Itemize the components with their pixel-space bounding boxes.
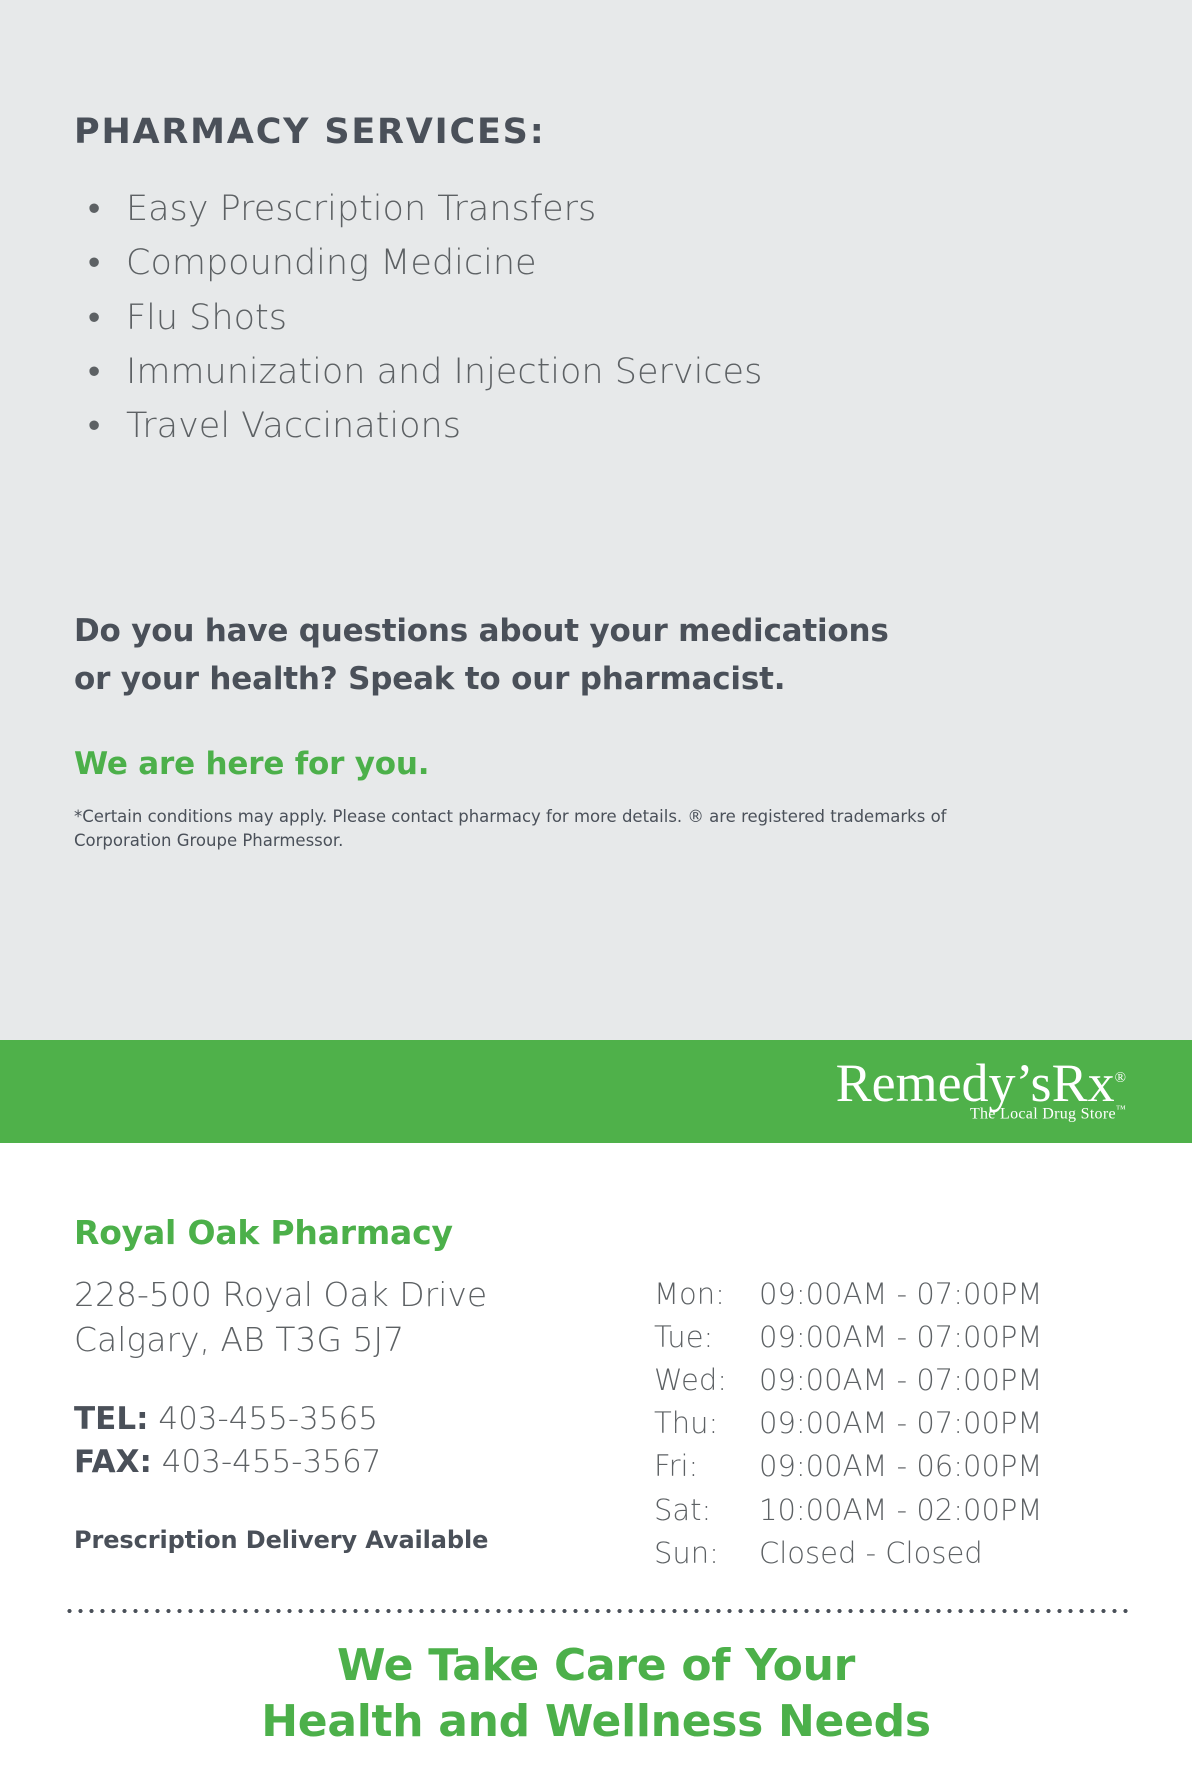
list-item-label: Easy Prescription Transfers — [126, 189, 596, 229]
telephone-label: TEL: — [74, 1401, 148, 1437]
message-line-1: Do you have questions about your medicat… — [74, 607, 1118, 655]
hours-time: 09:00AM - 07:00PM — [759, 1319, 1042, 1362]
message-line-2: or your health? Speak to our pharmacist. — [74, 655, 1118, 703]
brand-band: Remedy’sRx® The Local Drug Store™ — [0, 1040, 1192, 1143]
services-heading: PHARMACY SERVICES: — [74, 0, 1118, 152]
table-row: Fri: 09:00AM - 06:00PM — [654, 1448, 1042, 1491]
hours-time: 09:00AM - 06:00PM — [759, 1448, 1042, 1491]
store-name: Royal Oak Pharmacy — [74, 1143, 1118, 1252]
registered-trademark-icon: ® — [1115, 1070, 1126, 1086]
delivery-note: Prescription Delivery Available — [74, 1484, 654, 1554]
table-row: Thu: 09:00AM - 07:00PM — [654, 1405, 1042, 1448]
fax-label: FAX: — [74, 1444, 152, 1480]
hours-day: Fri: — [654, 1448, 759, 1491]
services-panel: PHARMACY SERVICES: • Easy Prescription T… — [0, 0, 1192, 1040]
hours-day: Thu: — [654, 1405, 759, 1448]
fax-value: 403-455-3567 — [162, 1444, 382, 1480]
hours-time: 09:00AM - 07:00PM — [759, 1276, 1042, 1319]
table-row: Tue: 09:00AM - 07:00PM — [654, 1319, 1042, 1362]
address-line-2: Calgary, AB T3G 5J7 — [74, 1317, 654, 1362]
disclaimer-text: *Certain conditions may apply. Please co… — [74, 788, 964, 853]
trademark-icon: ™ — [1116, 1104, 1126, 1115]
logo-wordmark: Remedy’sRx® — [836, 1056, 1126, 1110]
hours-day: Wed: — [654, 1362, 759, 1405]
list-item: • Immunization and Injection Services — [74, 345, 1118, 399]
pharmacist-message: Do you have questions about your medicat… — [74, 453, 1118, 852]
closing-tagline: We Take Care of Your Health and Wellness… — [0, 1638, 1192, 1751]
list-item: • Travel Vaccinations — [74, 399, 1118, 453]
telephone-value: 403-455-3565 — [158, 1401, 378, 1437]
hours-time: Closed - Closed — [759, 1535, 1042, 1578]
hours-day: Tue: — [654, 1319, 759, 1362]
logo-tagline-text: The Local Drug Store — [970, 1105, 1116, 1122]
bullet-icon: • — [88, 345, 100, 399]
address-line-1: 228-500 Royal Oak Drive — [74, 1272, 654, 1317]
hours-day: Mon: — [654, 1276, 759, 1319]
closing-line-1: We Take Care of Your — [0, 1638, 1192, 1694]
list-item: • Easy Prescription Transfers — [74, 182, 1118, 236]
list-item: • Flu Shots — [74, 291, 1118, 345]
hours-table: Mon: 09:00AM - 07:00PM Tue: 09:00AM - 07… — [654, 1276, 1042, 1578]
message-highlight: We are here for you. — [74, 703, 1118, 788]
bullet-icon: • — [88, 291, 100, 345]
list-item-label: Compounding Medicine — [126, 243, 537, 283]
pharmacy-flyer: PHARMACY SERVICES: • Easy Prescription T… — [0, 0, 1192, 1785]
table-row: Sat: 10:00AM - 02:00PM — [654, 1492, 1042, 1535]
store-info: Royal Oak Pharmacy 228-500 Royal Oak Dri… — [0, 1143, 1192, 1578]
hours-column: Mon: 09:00AM - 07:00PM Tue: 09:00AM - 07… — [654, 1272, 1118, 1578]
telephone-line: TEL: 403-455-3565 — [74, 1398, 654, 1441]
hours-time: 10:00AM - 02:00PM — [759, 1492, 1042, 1535]
phone-block: TEL: 403-455-3565 FAX: 403-455-3567 — [74, 1362, 654, 1484]
bullet-icon: • — [88, 399, 100, 453]
contact-column: 228-500 Royal Oak Drive Calgary, AB T3G … — [74, 1272, 654, 1554]
bullet-icon: • — [88, 182, 100, 236]
dotted-divider — [64, 1608, 1128, 1614]
hours-day: Sat: — [654, 1492, 759, 1535]
hours-time: 09:00AM - 07:00PM — [759, 1405, 1042, 1448]
services-list: • Easy Prescription Transfers • Compound… — [74, 152, 1118, 453]
list-item-label: Flu Shots — [126, 298, 287, 338]
hours-day: Sun: — [654, 1535, 759, 1578]
remedysrx-logo: Remedy’sRx® The Local Drug Store™ — [836, 1056, 1126, 1123]
table-row: Wed: 09:00AM - 07:00PM — [654, 1362, 1042, 1405]
closing-line-2: Health and Wellness Needs — [0, 1694, 1192, 1750]
hours-time: 09:00AM - 07:00PM — [759, 1362, 1042, 1405]
table-row: Sun: Closed - Closed — [654, 1535, 1042, 1578]
info-columns: 228-500 Royal Oak Drive Calgary, AB T3G … — [74, 1252, 1118, 1578]
fax-line: FAX: 403-455-3567 — [74, 1441, 654, 1484]
list-item-label: Travel Vaccinations — [126, 406, 461, 446]
list-item-label: Immunization and Injection Services — [126, 352, 762, 392]
table-row: Mon: 09:00AM - 07:00PM — [654, 1276, 1042, 1319]
bullet-icon: • — [88, 236, 100, 290]
list-item: • Compounding Medicine — [74, 236, 1118, 290]
